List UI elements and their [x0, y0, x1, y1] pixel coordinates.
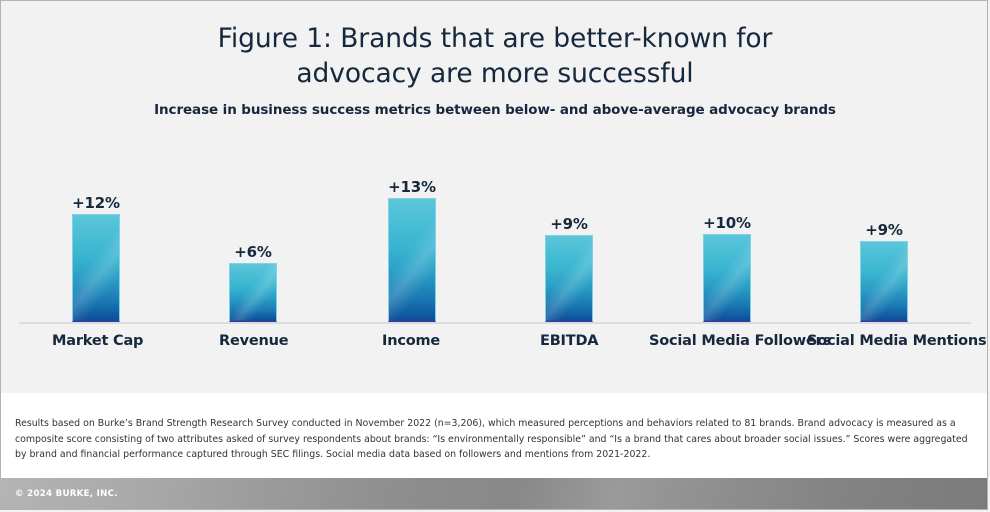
footnote-text: Results based on Burke’s Brand Strength … — [15, 416, 973, 463]
bar-group-income: +13% — [388, 198, 436, 322]
bar-income[interactable] — [388, 198, 436, 322]
x-axis-label-social-media-mentions: Social Media Mentions — [807, 333, 986, 349]
bar-value-label: +12% — [42, 194, 150, 212]
bar-market-cap[interactable] — [72, 214, 120, 322]
x-axis-label-income: Income — [382, 333, 440, 349]
bar-value-label: +10% — [673, 214, 781, 232]
title-line-2: advocacy are more successful — [1, 56, 988, 91]
chart-subtitle: Increase in business success metrics bet… — [1, 102, 988, 118]
footnote-area: Results based on Burke’s Brand Strength … — [1, 393, 988, 478]
bar-value-label: +9% — [515, 215, 623, 233]
bar-social-media-followers[interactable] — [703, 234, 751, 322]
chart-header: Figure 1: Brands that are better-known f… — [1, 21, 988, 118]
bar-value-label: +9% — [830, 221, 938, 239]
bar-group-social-media-mentions: +9% — [860, 241, 908, 322]
bar-ebitda[interactable] — [545, 235, 593, 322]
bar-group-revenue: +6% — [229, 263, 277, 322]
bar-series: +12% +6% +13% +9% +10% +9% — [1, 151, 988, 322]
bar-group-market-cap: +12% — [72, 214, 120, 322]
bar-social-media-mentions[interactable] — [860, 241, 908, 322]
x-axis-label-social-media-followers: Social Media Followers — [649, 333, 831, 349]
figure-container: Figure 1: Brands that are better-known f… — [0, 0, 988, 510]
bar-chart-plot: +12% +6% +13% +9% +10% +9% — [1, 151, 988, 394]
x-axis-label-revenue: Revenue — [219, 333, 288, 349]
footer-bar: © 2024 BURKE, INC. — [1, 478, 988, 510]
title-line-1: Figure 1: Brands that are better-known f… — [218, 23, 773, 54]
copyright-text: © 2024 BURKE, INC. — [15, 489, 118, 499]
bar-group-social-media-followers: +10% — [703, 234, 751, 322]
bar-value-label: +6% — [199, 243, 307, 261]
bar-group-ebitda: +9% — [545, 235, 593, 322]
page-title: Figure 1: Brands that are better-known f… — [1, 21, 988, 91]
bar-revenue[interactable] — [229, 263, 277, 322]
x-axis-label-market-cap: Market Cap — [52, 333, 143, 349]
x-axis-label-ebitda: EBITDA — [540, 333, 598, 349]
bar-value-label: +13% — [358, 178, 466, 196]
x-axis-line — [19, 322, 971, 324]
